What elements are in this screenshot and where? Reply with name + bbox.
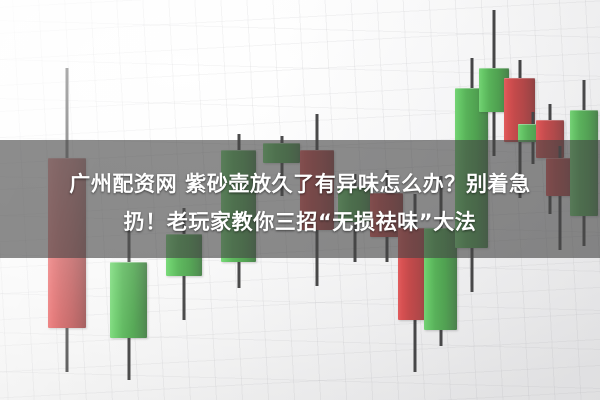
caption-line-2: 扔！老玩家教你三招“无损祛味”大法 [0, 206, 600, 236]
candlestick-body-up [110, 262, 147, 338]
candlestick-banner-image: 广州配资网 紫砂壶放久了有异味怎么办？别着急 扔！老玩家教你三招“无损祛味”大法 [0, 0, 600, 400]
caption-line-1: 广州配资网 紫砂壶放久了有异味怎么办？别着急 [0, 168, 600, 198]
caption-band [0, 140, 600, 258]
